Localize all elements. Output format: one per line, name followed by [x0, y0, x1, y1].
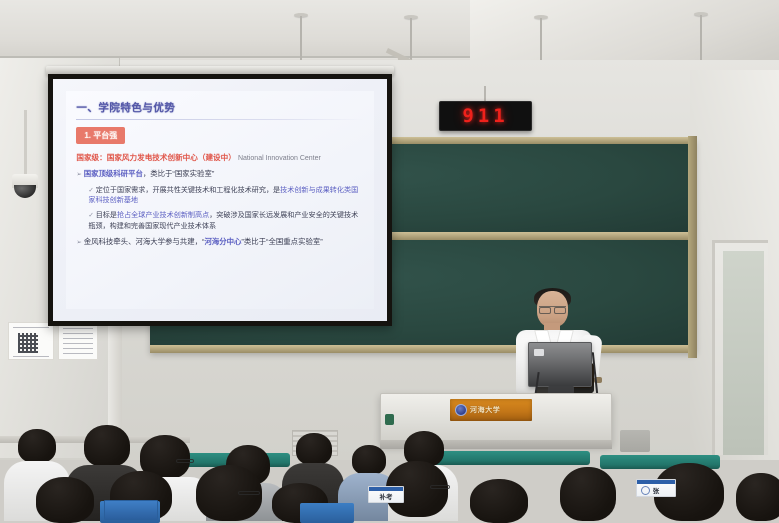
- plaque-text: 河海大学: [470, 405, 500, 415]
- chalk-rail-bottom: [150, 345, 696, 353]
- presentation-slide: 一、学院特色与优势 1. 平台强 国家级：国家风力发电技术创新中心（建设中） N…: [53, 79, 387, 321]
- monitor-sticker: [534, 349, 544, 356]
- namecard: [104, 500, 158, 520]
- bullet-2-suffix: ”类比于“全国重点实验室”: [241, 237, 322, 246]
- student-glasses-icon: [430, 485, 450, 489]
- student-head: [18, 429, 56, 463]
- poster-line: [13, 327, 49, 328]
- student-head-front: [470, 479, 528, 523]
- bullet-1-keyword: 国家顶级科研平台: [84, 169, 143, 178]
- slide-section-badge: 1. 平台强: [76, 127, 125, 144]
- student-glasses-icon: [176, 459, 194, 463]
- bullet-2-prefix: 金风科技牵头、河海大学参与共建，“: [84, 237, 205, 246]
- lectern-plaque: 河海大学: [450, 399, 532, 421]
- clock-hanger: [484, 86, 486, 102]
- poster-line: [63, 333, 93, 334]
- namecard-text: 张: [653, 485, 660, 496]
- slide-title-underline: [76, 119, 363, 120]
- subbullet-2-highlight: 抢占全球产业技术创新制高点: [117, 211, 209, 219]
- check-icon-2: ✓: [88, 212, 93, 219]
- national-label: 国家级：: [76, 153, 106, 162]
- poster-line: [63, 343, 93, 344]
- projection-screen: 一、学院特色与优势 1. 平台强 国家级：国家风力发电技术创新中心（建设中） N…: [48, 74, 392, 326]
- namecard: 张: [636, 479, 676, 497]
- slide-national-line: 国家级：国家风力发电技术创新中心（建设中） National Innovatio…: [76, 153, 363, 164]
- camera-mount: [24, 110, 27, 178]
- desk-front-mid: [300, 503, 354, 523]
- slide-title: 一、学院特色与优势: [76, 100, 363, 115]
- classroom-door[interactable]: [712, 240, 768, 455]
- student-head-front: [736, 473, 779, 521]
- student-head: [296, 433, 332, 465]
- poster-line: [63, 328, 93, 329]
- bullet-2-highlight: 河海分中心: [204, 237, 241, 246]
- student-head-front: [560, 467, 616, 521]
- bench-back-2: [430, 451, 590, 465]
- lecture-hall-scene: 一、学院特色与优势 1. 平台强 国家级：国家风力发电技术创新中心（建设中） N…: [0, 0, 779, 520]
- glasses-icon: [539, 306, 566, 311]
- student-head: [352, 445, 386, 475]
- bullet-arrow-icon: ➢: [76, 171, 81, 178]
- led-wall-clock: 911: [439, 101, 532, 131]
- poster-line: [63, 353, 93, 354]
- chalkboard-right-edge: [688, 136, 697, 358]
- clock-digits: 911: [462, 105, 508, 127]
- namecard-text: 补考: [380, 491, 393, 502]
- student-head: [84, 425, 130, 467]
- check-icon: ✓: [88, 187, 93, 194]
- subbullet-2-prefix: 目标是: [96, 211, 117, 219]
- bullet-arrow-icon-2: ➢: [76, 239, 81, 246]
- notice-poster: [58, 322, 98, 360]
- slide-bullet-1: ➢国家顶级科研平台，类比于“国家实验室”: [76, 169, 363, 179]
- namecard-header-bar: [637, 480, 675, 484]
- university-logo-icon: [455, 404, 467, 416]
- poster-line: [63, 338, 93, 339]
- namecard: 补考: [368, 486, 404, 503]
- slide-bullet-2: ➢金风科技牵头、河海大学参与共建，“河海分中心”类比于“全国重点实验室”: [76, 237, 363, 247]
- slide-content: 一、学院特色与优势 1. 平台强 国家级：国家风力发电技术创新中心（建设中） N…: [66, 91, 373, 309]
- poster-line: [13, 356, 49, 357]
- slide-subbullet-1: ✓定位于国家需求，开展共性关键技术和工程化技术研究，是技术创新与成果转化类国家科…: [88, 185, 363, 206]
- student-head-front: [36, 477, 94, 523]
- namecard-seal-icon: [641, 486, 650, 495]
- qr-code-poster: [8, 322, 54, 360]
- bullet-1-rest: ，类比于“国家实验室”: [143, 169, 214, 178]
- lectern-knob: [385, 414, 394, 425]
- slide-subbullet-2: ✓目标是抢占全球产业技术创新制高点，突破涉及国家长远发展和产业安全的关键技术瓶颈…: [88, 210, 363, 231]
- student-glasses-icon: [238, 491, 260, 495]
- national-center-english: National Innovation Center: [238, 155, 321, 162]
- poster-line: [63, 348, 93, 349]
- subbullet-1-prefix: 定位于国家需求，开展共性关键技术和工程化技术研究，是: [96, 186, 280, 194]
- qr-code-icon: [18, 333, 38, 353]
- national-center-name: 国家风力发电技术创新中心（建设中）: [107, 153, 236, 162]
